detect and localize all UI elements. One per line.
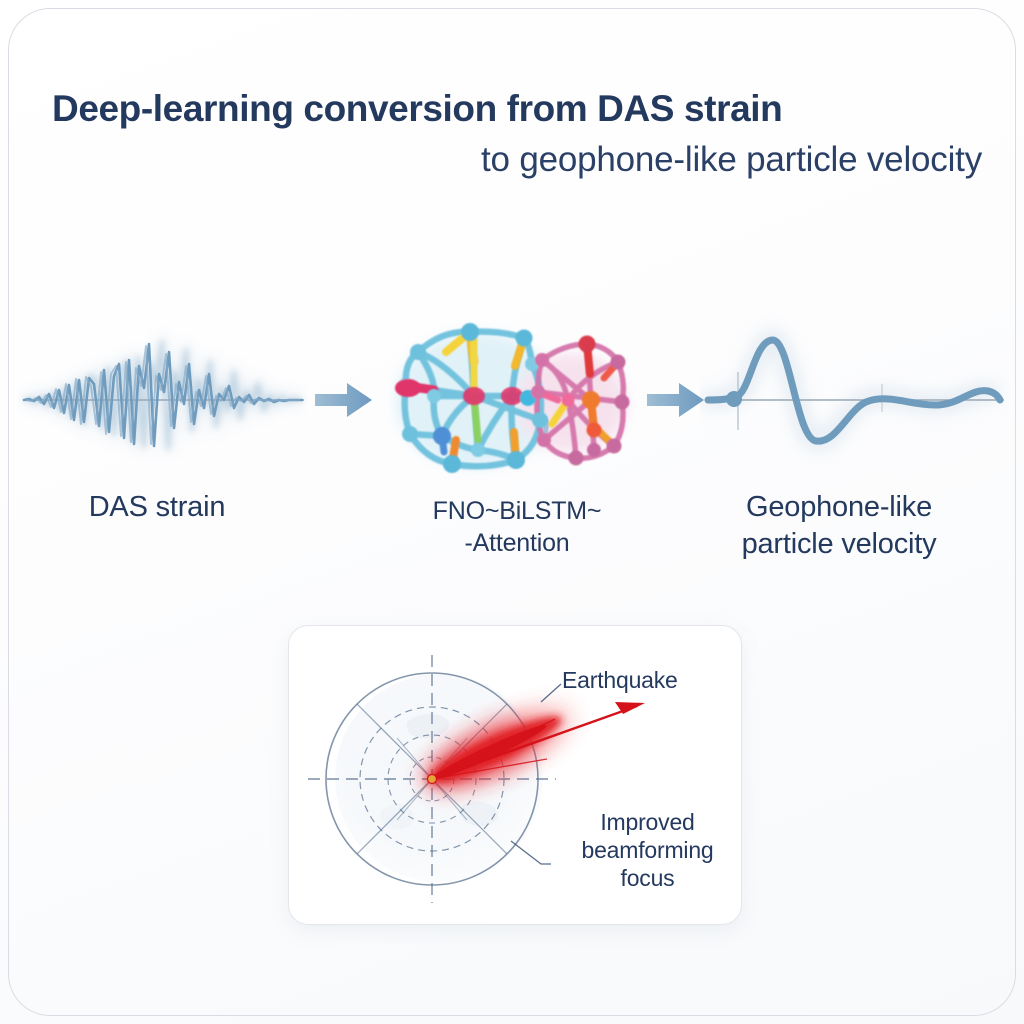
stage-caption-model: FNO~BiLSTM~ -Attention	[397, 495, 637, 559]
seismic-waveform-icon	[18, 300, 308, 500]
neural-network-mesh-icon	[382, 300, 642, 500]
title-line-primary: Deep-learning conversion from DAS strain	[52, 88, 982, 131]
velocity-caption-line-1: Geophone-like	[708, 489, 970, 526]
velocity-caption-line-2: particle velocity	[708, 526, 970, 563]
model-caption-line-2: -Attention	[397, 527, 637, 559]
title-line-secondary: to geophone-like particle velocity	[52, 139, 982, 181]
pipeline-row	[0, 300, 1024, 500]
label-improved-beamforming-focus: Improved beamforming focus	[560, 808, 735, 892]
page-title: Deep-learning conversion from DAS strain…	[52, 88, 982, 181]
stage-das-strain	[18, 300, 308, 500]
focus-label-line-3: focus	[560, 864, 735, 892]
model-caption-line-1: FNO~BiLSTM~	[397, 495, 637, 527]
stage-caption-particle-velocity: Geophone-like particle velocity	[708, 489, 970, 563]
focus-label-line-1: Improved	[560, 808, 735, 836]
damped-oscillation-icon	[700, 300, 1010, 500]
stage-caption-das-strain: DAS strain	[37, 489, 277, 526]
focus-label-line-2: beamforming	[560, 836, 735, 864]
arrow-right-icon-2	[645, 378, 707, 422]
arrow-right-icon-1	[313, 378, 375, 422]
stage-particle-velocity	[700, 300, 1010, 500]
stage-neural-network	[382, 300, 642, 500]
infographic-poster: Deep-learning conversion from DAS strain…	[0, 0, 1024, 1024]
label-earthquake: Earthquake	[562, 666, 732, 694]
